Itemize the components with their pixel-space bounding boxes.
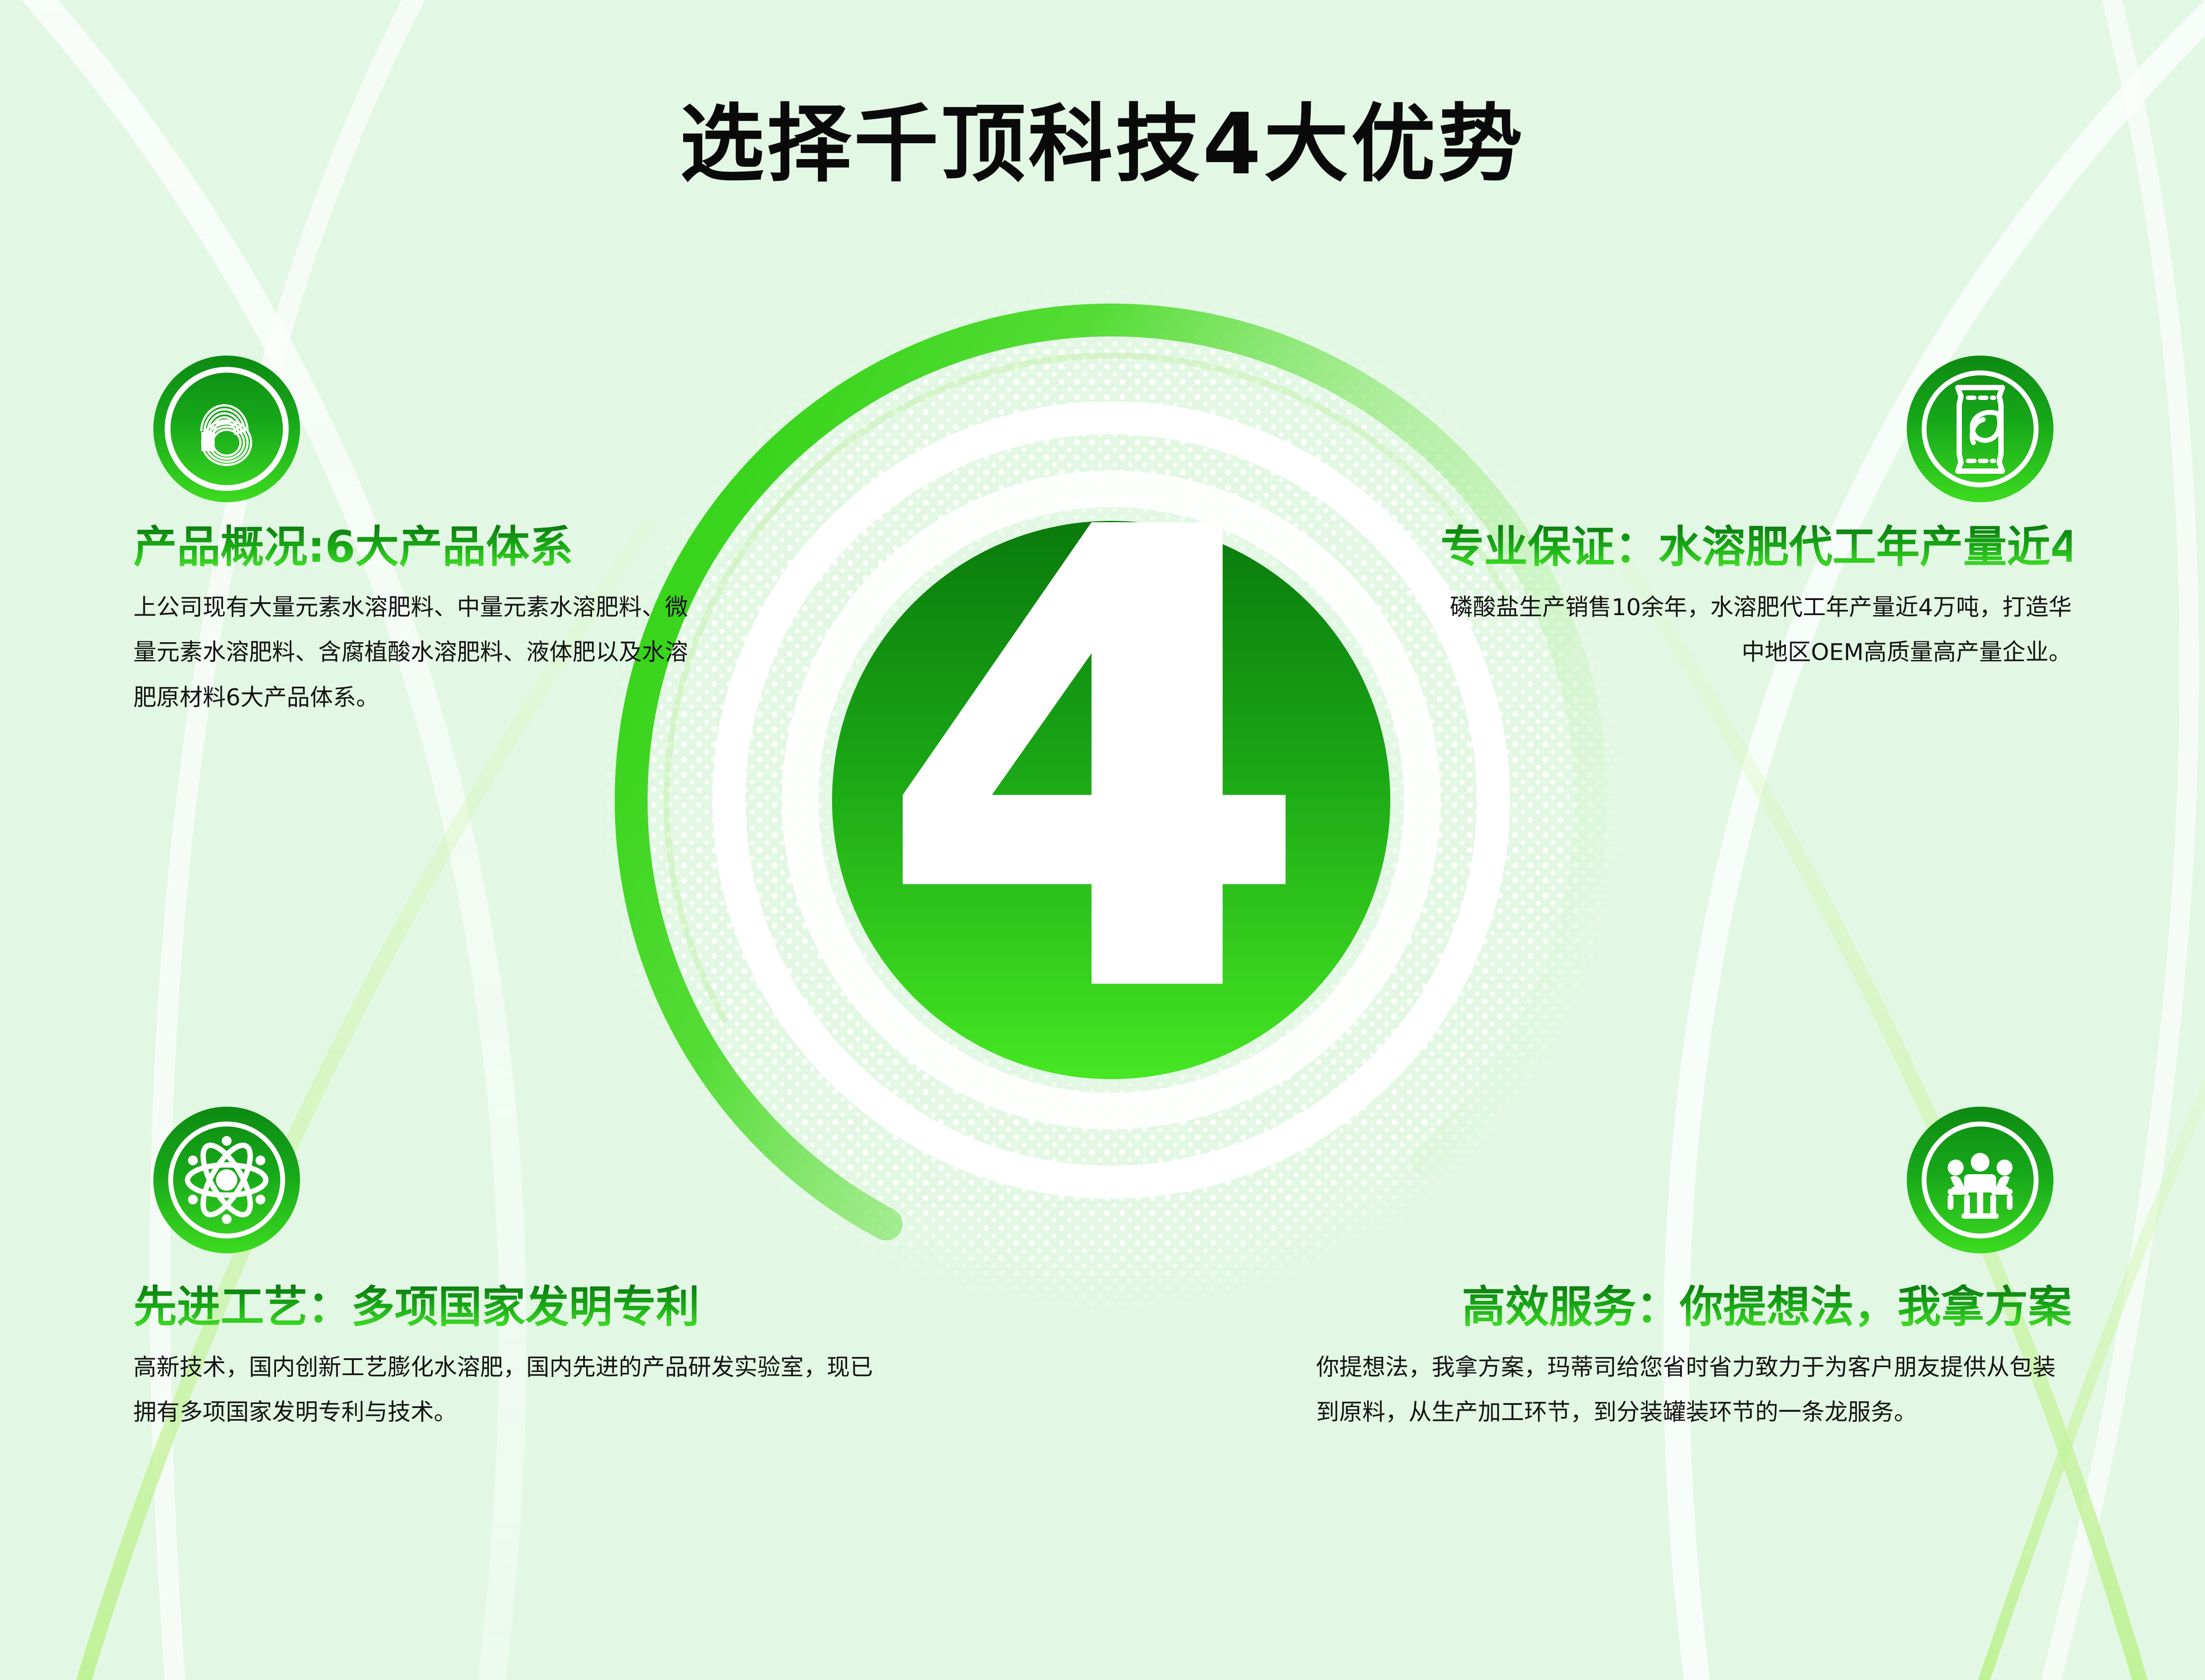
team-meeting-icon	[1907, 1107, 2053, 1253]
feature-body: 你提想法，我拿方案，玛蒂司给您省时省力致力于为客户朋友提供从包装到原料，从生产加…	[1316, 1345, 2072, 1436]
feature-top-left: 产品概况:6大产品体系 上公司现有大量元素水溶肥料、中量元素水溶肥料、微量元素水…	[133, 524, 707, 720]
infographic-canvas: 选择千顶科技4大优势	[0, 0, 2205, 1680]
feature-heading: 高效服务：你提想法，我拿方案	[1289, 1284, 2072, 1330]
center-emblem	[573, 262, 1649, 1338]
feature-body: 高新技术，国内创新工艺膨化水溶肥，国内先进的产品研发实验室，现已拥有多项国家发明…	[133, 1345, 889, 1436]
fertilizer-bag-icon	[1907, 356, 2053, 502]
number-six-spiral-icon	[153, 356, 300, 502]
feature-body: 上公司现有大量元素水溶肥料、中量元素水溶肥料、微量元素水溶肥料、含腐植酸水溶肥料…	[133, 585, 707, 720]
feature-heading: 先进工艺：多项国家发明专利	[133, 1284, 916, 1330]
badge-bottom-right	[1907, 1107, 2053, 1253]
atom-icon	[153, 1107, 300, 1253]
feature-bottom-left: 先进工艺：多项国家发明专利 高新技术，国内创新工艺膨化水溶肥，国内先进的产品研发…	[133, 1284, 916, 1436]
badge-bottom-left	[153, 1107, 300, 1253]
center-rings	[573, 262, 1649, 1338]
page-title: 选择千顶科技4大优势	[0, 102, 2205, 187]
feature-heading: 产品概况:6大产品体系	[133, 524, 707, 570]
badge-top-right	[1907, 356, 2053, 502]
feature-body: 磷酸盐生产销售10余年，水溶肥代工年产量近4万吨，打造华中地区OEM高质量高产量…	[1441, 585, 2072, 676]
feature-heading: 专业保证：水溶肥代工年产量近4万吨	[1441, 524, 2072, 570]
badge-top-left	[153, 356, 300, 502]
feature-top-right: 专业保证：水溶肥代工年产量近4万吨 磷酸盐生产销售10余年，水溶肥代工年产量近4…	[1441, 524, 2072, 676]
feature-bottom-right: 高效服务：你提想法，我拿方案 你提想法，我拿方案，玛蒂司给您省时省力致力于为客户…	[1289, 1284, 2072, 1436]
